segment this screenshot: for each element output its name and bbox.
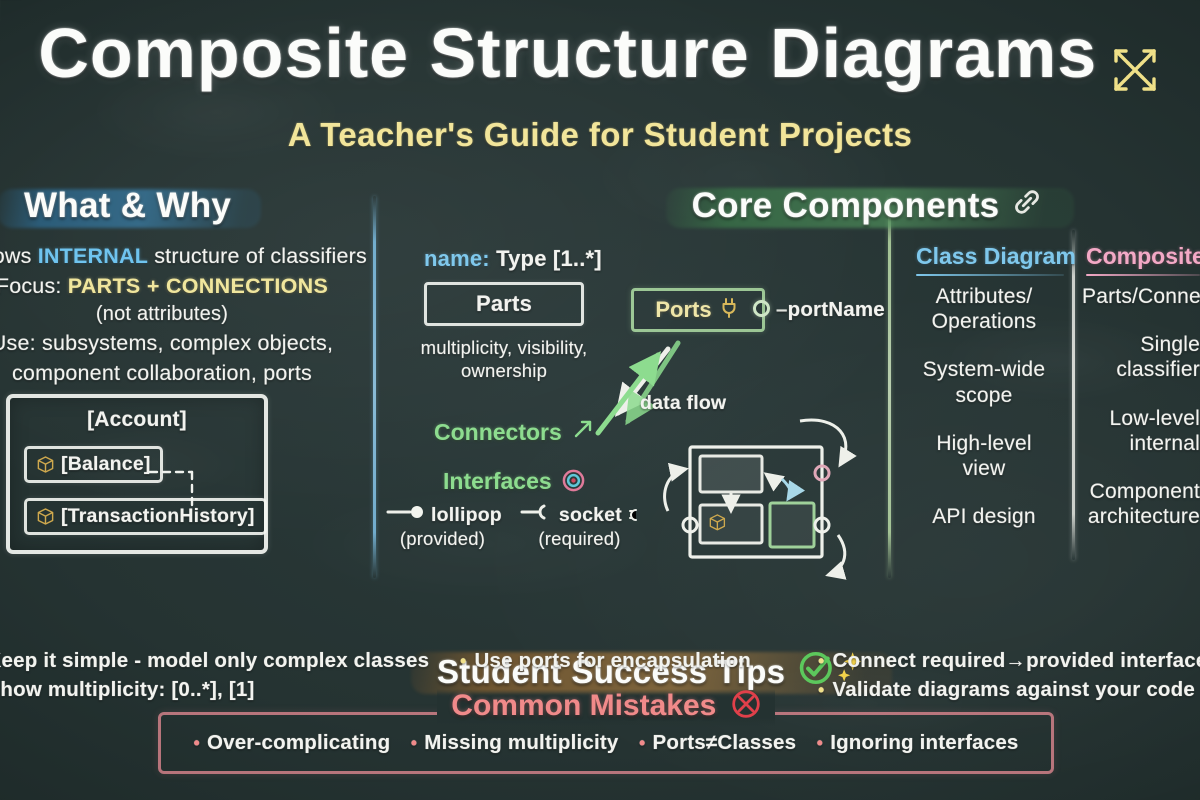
bullet-icon: •	[817, 734, 824, 752]
interfaces-label: Interfaces	[443, 468, 585, 498]
mistake-item: • Ignoring interfaces	[817, 731, 1019, 755]
part-label-balance: [Balance]	[61, 453, 151, 476]
column-divider-left	[373, 196, 376, 578]
comparison-rule-left	[916, 274, 1064, 276]
part-label-transaction-history: [TransactionHistory]	[61, 505, 255, 528]
comparison-cell: System-wide scope	[900, 357, 1068, 407]
bullet-icon: •	[639, 734, 646, 752]
parts-box-label: Parts	[476, 291, 532, 317]
comparison-cell: Attributes/ Operations	[900, 284, 1068, 334]
tip-item: • Connect required→provided interfaces	[818, 646, 1200, 675]
cube-icon	[36, 507, 55, 526]
comparison-column-header-class-diagram: Class Diagram	[916, 243, 1076, 270]
legend-captions: (provided) (required)	[386, 528, 636, 550]
port-name-label: –portName	[776, 298, 885, 322]
target-icon	[562, 469, 585, 498]
bullet-icon: •	[193, 734, 200, 752]
account-example-box: [Account] [Balance]	[6, 394, 268, 554]
legend-socket: socket	[520, 503, 645, 527]
section-header-what-why: What & Why	[8, 183, 247, 232]
comparison-cell: API design	[900, 504, 1068, 529]
page-title: Composite Structure Diagrams	[38, 18, 1097, 88]
cube-icon	[36, 455, 55, 474]
what-why-body: Shows INTERNAL structure of classifiers …	[0, 242, 358, 388]
section-header-core-components: Core Components	[676, 182, 1060, 232]
common-mistakes-box: Common Mistakes • Over-complicating • Mi…	[158, 712, 1054, 774]
tip-item: • Keep it simple - model only complex cl…	[0, 646, 442, 675]
comparison-rule-right	[1086, 274, 1200, 276]
account-box-label: [Account]	[10, 408, 264, 432]
part-syntax-label: name: Type [1..*]	[424, 246, 602, 272]
ports-box: Ports	[631, 288, 765, 332]
title-row: Composite Structure Diagrams	[0, 18, 1200, 102]
socket-symbol	[520, 503, 554, 527]
comparison-column-header-composite: Composite Structure	[1086, 243, 1200, 270]
bullet-icon: •	[411, 734, 418, 752]
component-architecture-sketch	[660, 415, 885, 580]
ports-box-label: Ports	[655, 297, 711, 323]
comparison-cell: Single classifier	[1082, 332, 1200, 382]
part-box-balance: [Balance]	[24, 446, 163, 483]
tips-column-2: • Use ports for encapsulation	[460, 646, 790, 675]
what-why-line-5: component collaboration, ports	[0, 359, 358, 389]
socket-glyph	[627, 507, 645, 523]
what-why-line-1: Shows INTERNAL structure of classifiers	[0, 242, 358, 272]
comparison-column-class-diagram: Attributes/ Operations System-wide scope…	[900, 284, 1068, 552]
bullet-icon: •	[460, 652, 467, 670]
arrow-up-right-icon	[571, 417, 595, 447]
keyword-internal: INTERNAL	[38, 244, 148, 268]
part-box-transaction-history: [TransactionHistory]	[24, 498, 267, 535]
comparison-cell: Component architecture	[1082, 479, 1200, 529]
bullet-icon: •	[818, 652, 825, 670]
expand-arrows-icon	[1108, 43, 1162, 102]
comparison-divider	[1072, 230, 1075, 560]
keyword-parts-connections: PARTS + CONNECTIONS	[68, 274, 328, 298]
legend-caption-required: (required)	[523, 528, 636, 550]
connectors-label: Connectors	[434, 417, 595, 447]
tip-item: • Use ports for encapsulation	[460, 646, 790, 675]
syntax-type-token: Type [1..*]	[496, 246, 602, 271]
common-mistakes-list: • Over-complicating • Missing multiplici…	[161, 715, 1051, 771]
comparison-cell: High-level view	[900, 431, 1068, 481]
comparison-column-composite-structure: Parts/Connectors Single classifier Low-l…	[1082, 284, 1200, 552]
what-why-line-4: Use: subsystems, complex objects,	[0, 329, 358, 359]
what-why-line-2: Focus: PARTS + CONNECTIONS	[0, 272, 358, 302]
mistake-item: • Missing multiplicity	[411, 731, 619, 755]
mistake-item: • Over-complicating	[193, 731, 390, 755]
legend-caption-provided: (provided)	[386, 528, 499, 550]
subtitle-row: A Teacher's Guide for Student Projects	[0, 116, 1200, 154]
section-title-what-why: What & Why	[24, 186, 231, 225]
interface-legend: lollipop socket (provided) (re	[386, 503, 636, 550]
chain-link-icon	[1010, 185, 1044, 224]
legend-lollipop: lollipop	[386, 503, 502, 527]
page-subtitle: A Teacher's Guide for Student Projects	[288, 116, 913, 153]
mistake-item: • Ports≠Classes	[639, 731, 796, 755]
data-flow-label: data flow	[640, 392, 726, 415]
syntax-name-token: name:	[424, 246, 490, 271]
comparison-cell: Low-level internal	[1082, 406, 1200, 456]
what-why-line-3: (not attributes)	[0, 301, 358, 329]
plug-icon	[717, 296, 741, 325]
parts-box: Parts	[424, 282, 584, 326]
port-connector-dot	[753, 300, 770, 317]
column-divider-right	[888, 196, 891, 578]
section-title-core-components: Core Components	[692, 186, 1000, 225]
lollipop-symbol	[386, 503, 426, 527]
chalkboard-canvas: Composite Structure Diagrams A Teacher's…	[0, 0, 1200, 800]
comparison-cell: Parts/Connectors	[1082, 284, 1200, 309]
